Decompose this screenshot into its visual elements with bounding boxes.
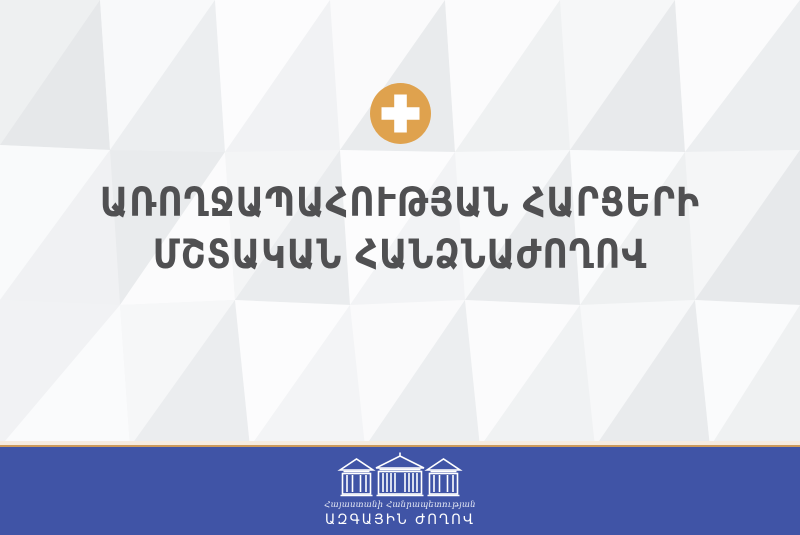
national-assembly-logo: Հայաստանի Հանրապետության ԱԶԳԱՅԻՆ ԺՈՂՈՎ: [0, 452, 800, 528]
logo-subtitle: Հայաստանի Հանրապետության: [324, 500, 475, 510]
title-line-2: ՄՇՏԱԿԱՆ ՀԱՆՁՆԱԺՈՂՈՎ: [52, 235, 748, 275]
healthcare-committee-banner: ԱՌՈՂՋԱՊԱՀՈՒԹՅԱՆ ՀԱՐՑԵՐԻ ՄՇՏԱԿԱՆ ՀԱՆՁՆԱԺՈ…: [0, 0, 800, 535]
parliament-building-icon: [332, 452, 468, 498]
page-title: ԱՌՈՂՋԱՊԱՀՈՒԹՅԱՆ ՀԱՐՑԵՐԻ ՄՇՏԱԿԱՆ ՀԱՆՁՆԱԺՈ…: [0, 183, 800, 275]
medical-cross-icon: [370, 83, 431, 144]
logo-title: ԱԶԳԱՅԻՆ ԺՈՂՈՎ: [325, 512, 475, 528]
title-line-1: ԱՌՈՂՋԱՊԱՀՈՒԹՅԱՆ ՀԱՐՑԵՐԻ: [52, 183, 748, 223]
